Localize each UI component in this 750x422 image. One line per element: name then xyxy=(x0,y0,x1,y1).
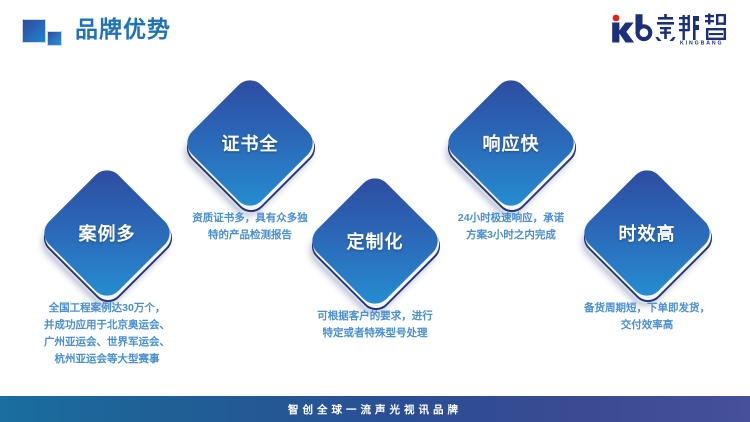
footer-slogan: 智创全球一流声光视讯品牌 xyxy=(288,402,462,417)
header-square-small-icon xyxy=(47,31,62,46)
card-description: 全国工程案例达30万个， 并成功应用于北京奥运会、 广州亚运会、世界军运会、 杭… xyxy=(18,300,196,368)
diamond-shape: 响应快 xyxy=(436,70,586,220)
advantage-card[interactable]: 案例多 全国工程案例达30万个， 并成功应用于北京奥运会、 广州亚运会、世界军运… xyxy=(32,160,182,310)
slide-canvas: 品牌优势 xyxy=(0,0,750,422)
card-description-line: 可根据客户的要求，进行 xyxy=(286,308,464,325)
advantage-card[interactable]: 响应快 24小时极速响应，承诺 方案3小时之内完成 xyxy=(436,70,586,220)
card-description-line: 全国工程案例达30万个， xyxy=(18,300,196,317)
card-description-line: 杭州亚运会等大型赛事 xyxy=(18,351,196,368)
card-description: 可根据客户的要求，进行 特定或者特殊型号处理 xyxy=(286,308,464,342)
page-title: 品牌优势 xyxy=(75,14,171,44)
card-title: 响应快 xyxy=(436,94,586,192)
diamond-shape: 案例多 xyxy=(32,160,182,310)
slide-header: 品牌优势 xyxy=(0,0,750,58)
header-square-large-icon xyxy=(22,19,46,43)
card-description-line: 并成功应用于北京奥运会、 xyxy=(18,317,196,334)
card-description: 备货周期短，下单即发货， 交付效率高 xyxy=(558,300,736,334)
advantage-card[interactable]: 时效高 备货周期短，下单即发货， 交付效率高 xyxy=(572,160,722,310)
card-description-line: 备货周期短，下单即发货， xyxy=(558,300,736,317)
slide-footer: 智创全球一流声光视讯品牌 xyxy=(0,396,750,422)
brand-logo: KINGBANG xyxy=(608,12,736,46)
card-description-line: 特定或者特殊型号处理 xyxy=(286,325,464,342)
diamond-shape: 时效高 xyxy=(572,160,722,310)
logo-mark-icon: KINGBANG xyxy=(608,12,736,46)
svg-text:KINGBANG: KINGBANG xyxy=(680,40,723,46)
card-description-line: 交付效率高 xyxy=(558,317,736,334)
card-description-line: 广州亚运会、世界军运会、 xyxy=(18,334,196,351)
card-title: 案例多 xyxy=(32,184,182,282)
card-title: 时效高 xyxy=(572,184,722,282)
